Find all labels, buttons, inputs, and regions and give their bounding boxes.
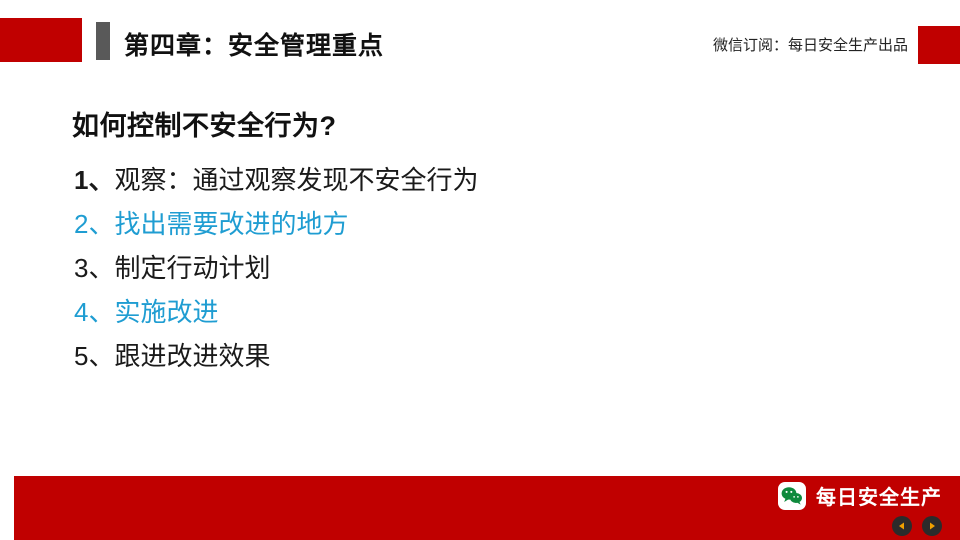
header-red-block-right bbox=[918, 26, 960, 64]
list-item: 5、跟进改进效果 bbox=[74, 334, 874, 378]
list-item-number: 2、 bbox=[74, 209, 114, 239]
list-item-label: 制定行动计划 bbox=[114, 253, 270, 283]
list-item-number: 4、 bbox=[74, 297, 114, 327]
chapter-title: 第四章：安全管理重点 bbox=[124, 26, 384, 62]
header-red-block-left bbox=[0, 18, 82, 62]
list-item: 4、实施改进 bbox=[74, 290, 874, 334]
slide-canvas: 第四章：安全管理重点 微信订阅：每日安全生产出品 如何控制不安全行为? 1、观察… bbox=[0, 0, 960, 540]
steps-list: 1、观察：通过观察发现不安全行为 2、找出需要改进的地方 3、制定行动计划 4、… bbox=[74, 158, 874, 378]
list-item-label: 观察：通过观察发现不安全行为 bbox=[114, 165, 478, 195]
wechat-label: 每日安全生产 bbox=[816, 481, 942, 510]
list-item-number: 1、 bbox=[74, 165, 114, 195]
list-item-number: 3、 bbox=[74, 253, 114, 283]
list-item: 3、制定行动计划 bbox=[74, 246, 874, 290]
list-item-label: 实施改进 bbox=[114, 297, 218, 327]
prev-arrow-icon[interactable] bbox=[892, 516, 912, 536]
page-title: 如何控制不安全行为? bbox=[72, 104, 337, 143]
list-item: 2、找出需要改进的地方 bbox=[74, 202, 874, 246]
wechat-icon bbox=[778, 482, 806, 510]
list-item-number: 5、 bbox=[74, 341, 114, 371]
subscribe-note: 微信订阅：每日安全生产出品 bbox=[713, 34, 908, 55]
footer-white-notch bbox=[0, 476, 14, 540]
wechat-brand: 每日安全生产 bbox=[778, 481, 942, 510]
nav-arrows[interactable] bbox=[892, 516, 942, 536]
next-arrow-icon[interactable] bbox=[922, 516, 942, 536]
header-gray-bar bbox=[96, 22, 110, 60]
list-item-label: 跟进改进效果 bbox=[114, 341, 270, 371]
list-item-label: 找出需要改进的地方 bbox=[114, 209, 348, 239]
list-item: 1、观察：通过观察发现不安全行为 bbox=[74, 158, 874, 202]
